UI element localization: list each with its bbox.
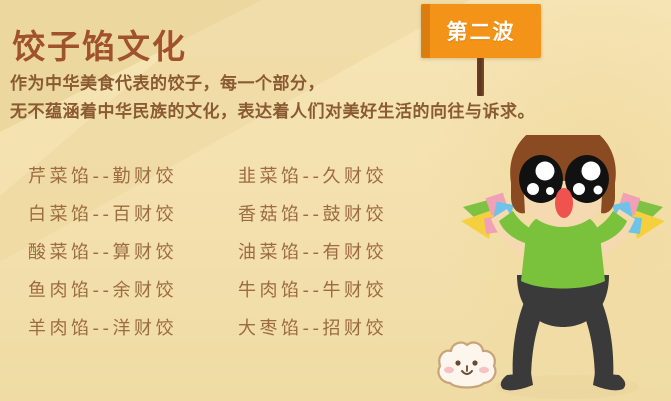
list-row: 芹菜馅--勤财饺 韭菜馅--久财饺 xyxy=(28,156,448,194)
list-row: 白菜馅--百财饺 香菇馅--鼓财饺 xyxy=(28,194,448,232)
filling-item-right: 韭菜馅--久财饺 xyxy=(238,162,448,188)
filling-item-left: 羊肉馅--洋财饺 xyxy=(28,314,238,340)
filling-item-left: 白菜馅--百财饺 xyxy=(28,200,238,226)
filling-list: 芹菜馅--勤财饺 韭菜馅--久财饺 白菜馅--百财饺 香菇馅--鼓财饺 酸菜馅-… xyxy=(28,156,448,346)
subtitle-line-1: 作为中华美食代表的饺子，每一个部分， xyxy=(10,69,325,94)
filling-item-right: 大枣馅--招财饺 xyxy=(238,314,448,340)
sign-label: 第二波 xyxy=(421,4,541,58)
poster-canvas: 饺子馅文化 作为中华美食代表的饺子，每一个部分， 无不蕴涵着中华民族的文化，表达… xyxy=(0,0,671,401)
filling-item-right: 油菜馅--有财饺 xyxy=(238,238,448,264)
filling-item-right: 香菇馅--鼓财饺 xyxy=(238,200,448,226)
filling-item-left: 鱼肉馅--余财饺 xyxy=(28,276,238,302)
filling-item-left: 芹菜馅--勤财饺 xyxy=(28,162,238,188)
sign-board: 第二波 xyxy=(421,4,541,58)
filling-item-left: 酸菜馅--算财饺 xyxy=(28,238,238,264)
filling-item-right: 牛肉馅--牛财饺 xyxy=(238,276,448,302)
subtitle-line-2: 无不蕴涵着中华民族的文化，表达着人们对美好生活的向往与诉求。 xyxy=(10,97,535,122)
banner-sign: 第二波 xyxy=(418,0,548,95)
cheering-girl-character xyxy=(455,135,671,401)
page-title: 饺子馅文化 xyxy=(12,20,187,68)
list-row: 鱼肉馅--余财饺 牛肉馅--牛财饺 xyxy=(28,270,448,308)
list-row: 羊肉馅--洋财饺 大枣馅--招财饺 xyxy=(28,308,448,346)
list-row: 酸菜馅--算财饺 油菜馅--有财饺 xyxy=(28,232,448,270)
